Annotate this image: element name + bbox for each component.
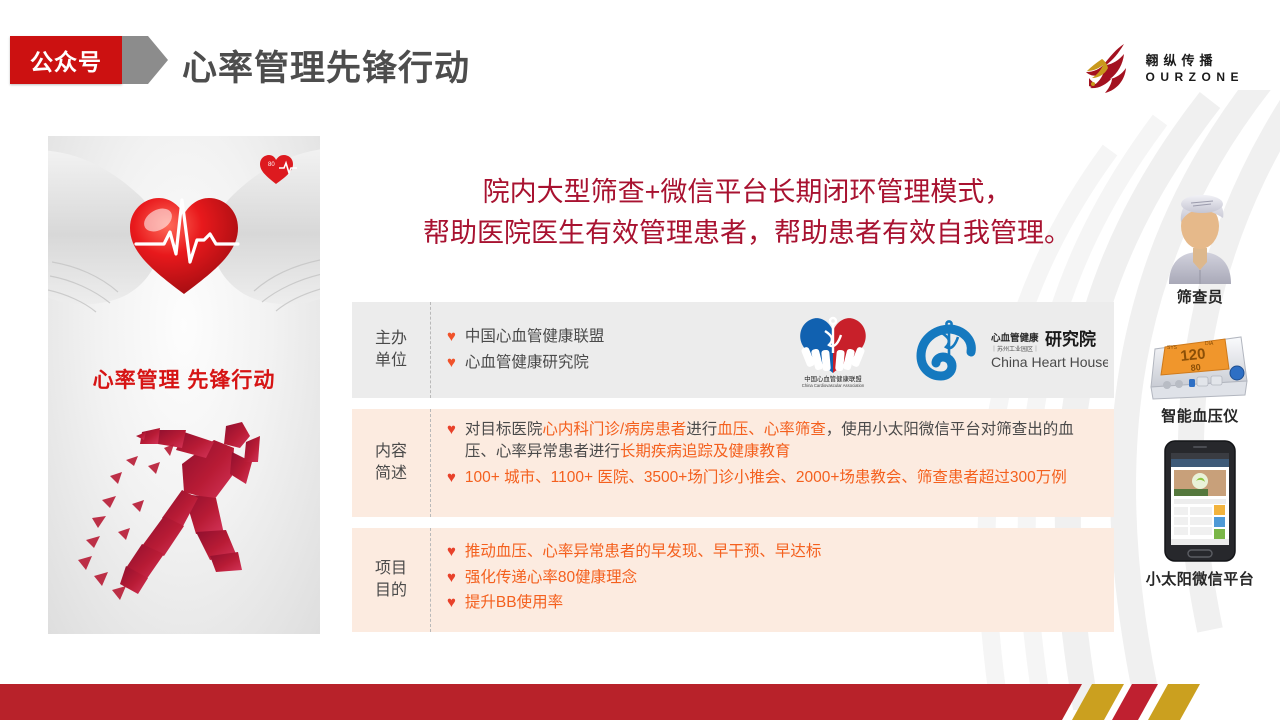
content-summary-text-1: 对目标医院心内科门诊/病房患者进行血压、心率筛查，使用小太阳微信平台对筛查出的血… (465, 419, 1100, 464)
slide-header: 公众号 心率管理先锋行动 翱纵传播 OURZONE (0, 0, 1280, 122)
text-segment: 进行 (686, 421, 717, 438)
svg-text:80: 80 (1190, 362, 1201, 373)
heart-bullet-icon: ♥ (447, 467, 456, 490)
row-label-line2: 目的 (375, 580, 407, 602)
goal-text: 推动血压、心率异常患者的早发现、早干预、早达标 (465, 541, 1100, 563)
goal-text: 强化传递心率80健康理念 (465, 567, 1100, 589)
heart-bullet-icon: ♥ (447, 541, 456, 564)
text-segment-highlight: 长期疾病追踪及健康教育 (620, 443, 791, 460)
organizer-name: 中国心血管健康联盟 (465, 326, 777, 348)
svg-text:DIA: DIA (1205, 341, 1214, 347)
row-label-line2: 单位 (375, 350, 407, 372)
row-label-line1: 内容 (375, 441, 407, 463)
row-label-content-summary: 内容 简述 (352, 409, 431, 517)
text-segment-highlight: 血压、心率筛查 (717, 421, 826, 438)
page-title: 心率管理先锋行动 (182, 40, 470, 91)
phoenix-eagle-icon (1080, 40, 1138, 98)
info-table: 主办 单位 ♥ 中国心血管健康联盟 ♥ 心血管健康研究院 (352, 302, 1114, 643)
organizer-logos: 中国心血管健康联盟 China Cardiovascular Associati… (777, 311, 1108, 389)
brand-name-cn: 翱纵传播 (1146, 54, 1245, 68)
logo-caption-cn: 心血管健康 (991, 332, 1039, 344)
logo-caption-en: China Cardiovascular Association (802, 383, 865, 388)
headline-block: 院内大型筛查+微信平台长期闭环管理模式， 帮助医院医生有效管理患者，帮助患者有效… (352, 172, 1142, 254)
footer-stripe-gold-2 (1148, 684, 1200, 720)
slide-root: 公众号 心率管理先锋行动 翱纵传播 OURZONE (0, 0, 1280, 720)
poster-slogan: 心率管理 先锋行动 (48, 364, 320, 394)
organizer-list: ♥ 中国心血管健康联盟 ♥ 心血管健康研究院 (447, 326, 777, 374)
heart-bullet-icon: ♥ (447, 567, 456, 590)
logo-caption-cn-big: 研究院 (1045, 329, 1096, 349)
headline-line-1: 院内大型筛查+微信平台长期闭环管理模式， (352, 172, 1142, 213)
list-item: ♥ 提升BB使用率 (447, 592, 1100, 615)
logo-caption-en: China Heart House (991, 354, 1108, 370)
row-label-project-goals: 项目 目的 (352, 528, 431, 632)
table-row-organizers: 主办 单位 ♥ 中国心血管健康联盟 ♥ 心血管健康研究院 (352, 302, 1114, 398)
goal-text: 提升BB使用率 (465, 592, 1100, 614)
rail-caption: 智能血压仪 (1124, 405, 1276, 426)
footer-bar (0, 684, 1280, 720)
badge-gongzhonghao: 公众号 (10, 36, 122, 84)
rail-caption: 筛查员 (1124, 286, 1276, 307)
logo-caption-cn: 中国心血管健康联盟 (804, 374, 862, 383)
nurse-avatar-icon (1124, 180, 1276, 284)
rail-item-bp-monitor: 120 80 SYS DIA 智能血压仪 (1124, 317, 1276, 426)
campaign-poster: 80 心率管理 先锋行动 (48, 136, 320, 634)
content-summary-stats: 100+ 城市、1100+ 医院、3500+场门诊小推会、2000+场患教会、筛… (465, 467, 1100, 489)
row-label-line2: 简述 (375, 463, 407, 485)
brand-name-en: OURZONE (1146, 71, 1245, 84)
list-item: ♥ 心血管健康研究院 (447, 352, 777, 375)
heart-bullet-icon: ♥ (447, 352, 456, 375)
table-row-project-goals: 项目 目的 ♥ 推动血压、心率异常患者的早发现、早干预、早达标 ♥ 强化传递心率… (352, 528, 1114, 632)
text-segment: 对目标医院 (465, 421, 543, 438)
row-label-organizers: 主办 单位 (352, 302, 431, 398)
rail-caption: 小太阳微信平台 (1124, 568, 1276, 589)
blood-pressure-monitor-icon: 120 80 SYS DIA (1124, 317, 1276, 403)
header-arrow-icon (122, 36, 168, 84)
smartphone-wechat-icon (1124, 436, 1276, 566)
china-heart-house-logo-icon: 心血管健康 研究院 ｜苏州工业园区｜ China Heart House (913, 319, 1108, 381)
svg-text:SYS: SYS (1167, 345, 1178, 351)
rail-item-wechat-platform: 小太阳微信平台 (1124, 436, 1276, 589)
list-item: ♥ 推动血压、心率异常患者的早发现、早干预、早达标 (447, 541, 1100, 564)
svg-text:80: 80 (268, 162, 275, 168)
logo-caption-cn-sub: ｜苏州工业园区｜ (991, 345, 1039, 353)
heart-bullet-icon: ♥ (447, 419, 456, 442)
row-label-line1: 项目 (375, 558, 407, 580)
list-item: ♥ 强化传递心率80健康理念 (447, 567, 1100, 590)
organizer-name: 心血管健康研究院 (465, 352, 777, 374)
list-item: ♥ 100+ 城市、1100+ 医院、3500+场门诊小推会、2000+场患教会… (447, 467, 1100, 490)
rail-item-screener: 筛查员 (1124, 180, 1276, 307)
heart-bullet-icon: ♥ (447, 326, 456, 349)
table-row-content-summary: 内容 简述 ♥ 对目标医院心内科门诊/病房患者进行血压、心率筛查，使用小太阳微信… (352, 409, 1114, 517)
list-item: ♥ 对目标医院心内科门诊/病房患者进行血压、心率筛查，使用小太阳微信平台对筛查出… (447, 419, 1100, 464)
footer-red-band (0, 684, 1082, 720)
heart-bullet-icon: ♥ (447, 592, 456, 615)
text-segment-highlight: 心内科门诊/病房患者 (542, 421, 686, 438)
hands-holding-heart-image: 80 (48, 142, 320, 342)
china-cardiovascular-association-logo-icon: 中国心血管健康联盟 China Cardiovascular Associati… (787, 311, 879, 389)
badge-label: 公众号 (30, 43, 102, 77)
right-rail: 筛查员 120 80 SYS (1124, 180, 1276, 589)
brand-logo: 翱纵传播 OURZONE (1080, 40, 1245, 98)
running-athlete-graphic (64, 404, 314, 614)
headline-line-2: 帮助医院医生有效管理患者，帮助患者有效自我管理。 (352, 213, 1142, 254)
row-label-line1: 主办 (375, 328, 407, 350)
list-item: ♥ 中国心血管健康联盟 (447, 326, 777, 349)
